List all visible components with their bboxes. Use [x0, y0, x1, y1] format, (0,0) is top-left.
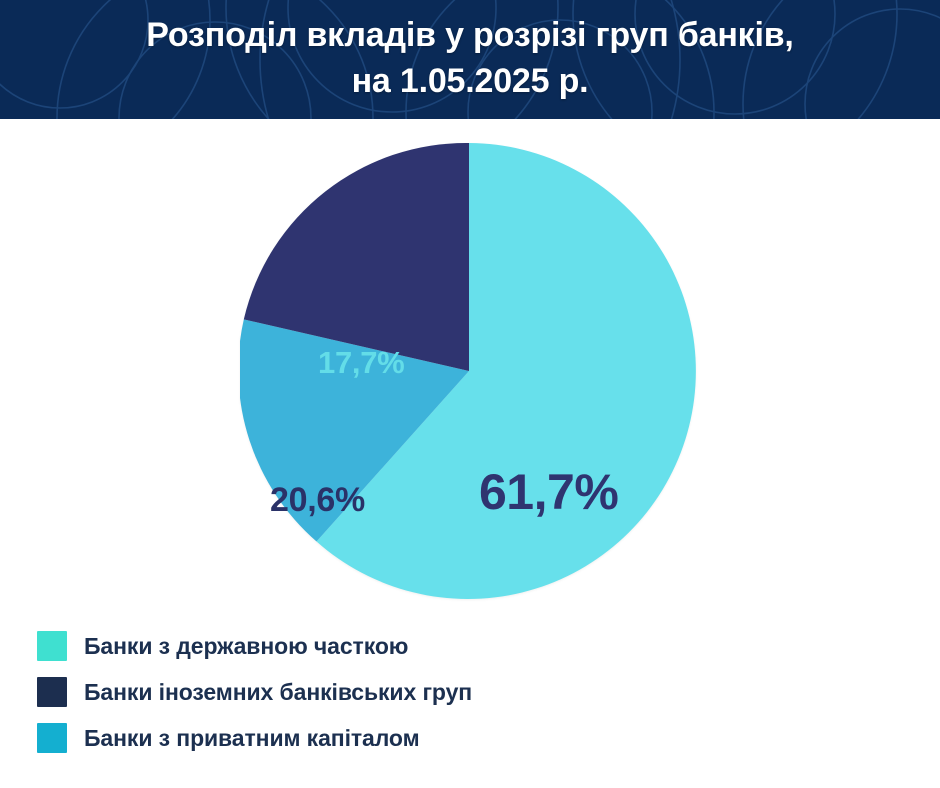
- header-banner: Розподіл вкладів у розрізі груп банків, …: [0, 0, 940, 119]
- legend-item-private-banks[interactable]: Банки з приватним капіталом: [37, 723, 472, 753]
- legend-item-state-banks[interactable]: Банки з державною часткою: [37, 631, 472, 661]
- legend-item-foreign-banks[interactable]: Банки іноземних банківських груп: [37, 677, 472, 707]
- legend-swatch-icon-state-banks: [37, 631, 67, 661]
- chart-legend: Банки з державною часткою Банки іноземни…: [37, 631, 472, 753]
- pie-chart-svg: [240, 142, 698, 600]
- page-title: Розподіл вкладів у розрізі груп банків, …: [0, 0, 940, 104]
- pie-label-private-banks: 20,6%: [270, 483, 365, 517]
- page-title-line-2: на 1.05.2025 р.: [0, 59, 940, 105]
- legend-swatch-icon-private-banks: [37, 723, 67, 753]
- pie-label-state-banks: 61,7%: [479, 467, 618, 517]
- legend-swatch-icon-foreign-banks: [37, 677, 67, 707]
- legend-label-private-banks: Банки з приватним капіталом: [84, 725, 420, 752]
- page-title-line-1: Розподіл вкладів у розрізі груп банків,: [0, 13, 940, 59]
- chart-area: 61,7% 20,6% 17,7%: [0, 119, 940, 619]
- legend-label-state-banks: Банки з державною часткою: [84, 633, 408, 660]
- pie-chart: [240, 142, 698, 600]
- legend-label-foreign-banks: Банки іноземних банківських груп: [84, 679, 472, 706]
- pie-label-foreign-banks: 17,7%: [318, 347, 404, 378]
